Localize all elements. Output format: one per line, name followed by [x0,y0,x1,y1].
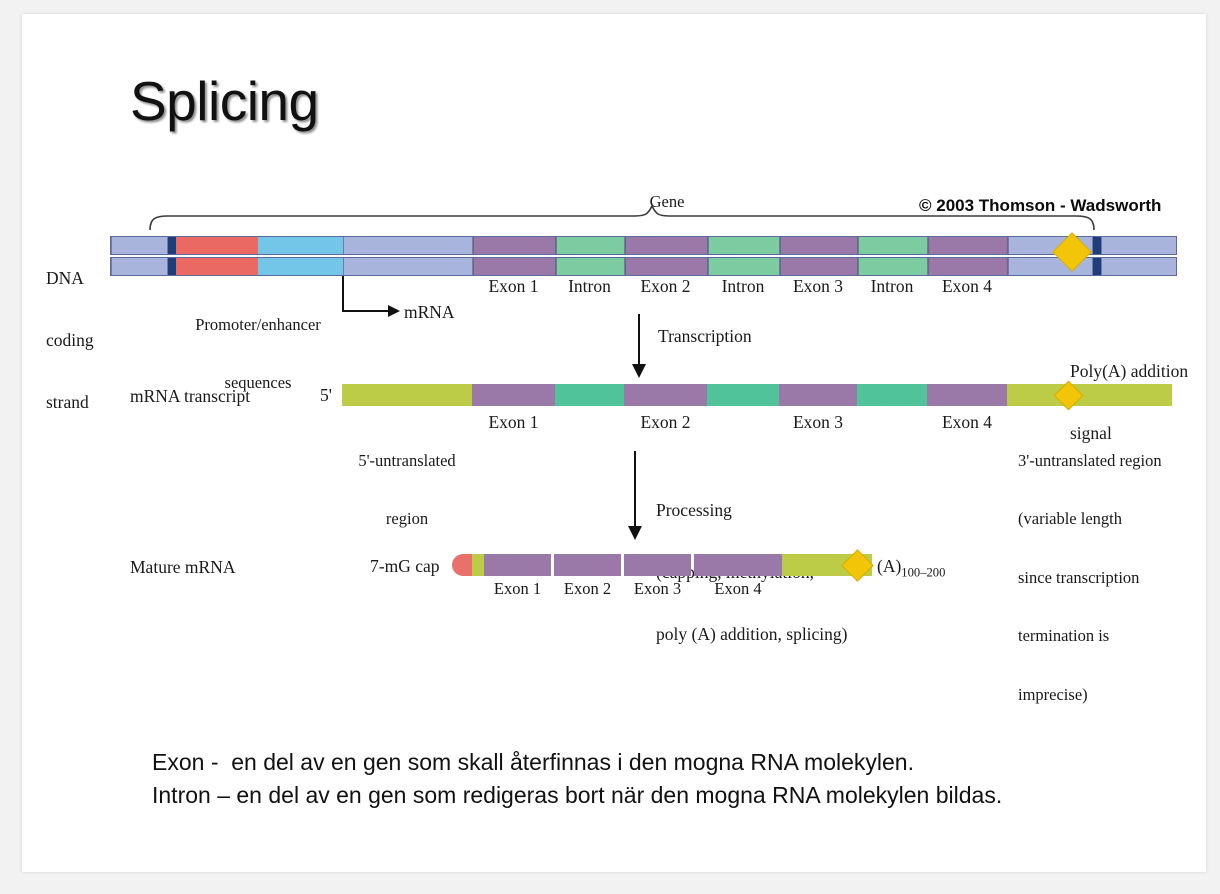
mrna-transcript-bar [342,384,1172,406]
dna-segment-flank-4 [343,237,473,254]
dna-segment-promoter-2 [176,258,258,275]
dna-segment-intron-10 [858,258,928,275]
dna-strand-top [110,236,1177,255]
gene-bracket [142,204,1102,232]
dna-segment-intron-8 [708,237,780,254]
dna-strand-label-line-2: coding [46,330,94,351]
dna-segment-dark-band-1 [168,237,176,254]
dna-segment-dark-band-13 [1093,258,1101,275]
mature-segment-exon-4 [624,554,691,576]
dna-segment-flank-14 [1101,237,1177,254]
utr5-label-line-2: region [358,509,455,528]
mature-label-exon-4-3: Exon 4 [714,579,761,598]
transcript-segment-exon-7 [927,384,1007,406]
caption-block: Exon - en del av en gen som skall återfi… [152,746,1002,811]
dna-strand-label-line-1: DNA [46,268,94,289]
dna-strand-bottom [110,257,1177,276]
utr5-label: 5'-untranslated region [358,412,455,568]
mrna-branch-hline [342,310,390,312]
utr5-label-line-1: 5'-untranslated [358,451,455,470]
dna-segment-intron-8 [708,258,780,275]
gene-label: Gene [650,192,685,211]
utr3-label-line-3: since transcription [1018,568,1162,587]
processing-arrowhead [628,526,642,540]
utr3-label-line-2: (variable length [1018,509,1162,528]
dna-segment-promoter-2 [176,237,258,254]
polya-tail-subscript: 100–200 [901,566,945,580]
mature-segment-exon-3 [554,554,621,576]
dna-label-exon-1-0: Exon 1 [488,276,538,297]
mature-label-exon-3-2: Exon 3 [634,579,681,598]
dna-segment-flank-0 [111,237,168,254]
transcript-label-exon-1-0: Exon 1 [488,412,538,433]
dna-segment-exon-11 [928,237,1008,254]
dna-segment-exon-11 [928,258,1008,275]
mrna-branch-arrowhead [388,305,400,317]
dna-segment-exon-7 [625,237,708,254]
transcription-arrow-line [638,314,640,368]
processing-arrow-line [634,451,636,529]
transcript-segment-intron-4 [707,384,779,406]
dna-segment-exon-7 [625,258,708,275]
promoter-label: Promoter/enhancer sequences [195,276,321,432]
dna-segment-dark-band-1 [168,258,176,275]
transcript-label-exon-2-1: Exon 2 [640,412,690,433]
transcription-arrowhead [632,364,646,378]
utr3-label: 3'-untranslated region (variable length … [1018,412,1162,743]
transcript-label-exon-3-2: Exon 3 [793,412,843,433]
processing-label-line-3: poly (A) addition, splicing) [656,624,848,645]
seven-mg-cap [452,554,474,576]
dna-segment-exon-9 [780,258,858,275]
dna-segment-flank-4 [343,258,473,275]
mrna-arrow-label: mRNA [404,302,455,323]
promoter-label-line-1: Promoter/enhancer [195,315,321,334]
dna-segment-intron-6 [556,258,625,275]
five-prime-label: 5' [320,385,332,406]
transcript-segment-exon-5 [779,384,857,406]
mature-label-exon-1-0: Exon 1 [494,579,541,598]
transcript-segment-utr-8 [1007,384,1172,406]
polya-tail-text: (A) [877,556,901,576]
page-title: Splicing [130,69,319,133]
transcript-label-exon-4-3: Exon 4 [942,412,992,433]
caption-line-intron: Intron – en del av en gen som redigeras … [152,779,1002,812]
dna-segment-flank-14 [1101,258,1177,275]
dna-segment-exon-5 [473,237,556,254]
utr3-label-line-5: imprecise) [1018,685,1162,704]
polya-signal-label-line-1: Poly(A) addition [1070,361,1188,382]
dna-label-exon-2-2: Exon 2 [640,276,690,297]
dna-label-exon-4-6: Exon 4 [942,276,992,297]
mrna-transcript-label: mRNA transcript [130,386,250,407]
caption-line-exon: Exon - en del av en gen som skall återfi… [152,746,1002,779]
dna-segment-exon-9 [780,237,858,254]
utr3-label-line-4: termination is [1018,626,1162,645]
cap-label: 7-mG cap [370,556,440,577]
mature-segment-exon-5 [694,554,782,576]
dna-label-intron-1: Intron [568,276,611,297]
transcript-segment-utr-0 [342,384,472,406]
dna-segment-enhancer-3 [258,237,343,254]
dna-label-intron-5: Intron [871,276,914,297]
dna-label-intron-3: Intron [722,276,765,297]
mrna-branch-vline [342,276,344,312]
slide-canvas: Splicing © 2003 Thomson - Wadsworth Gene… [22,14,1206,872]
dna-strand-label: DNA coding strand [46,227,94,454]
transcription-label: Transcription [658,326,752,347]
transcript-segment-intron-6 [857,384,927,406]
transcript-segment-exon-3 [624,384,707,406]
polya-tail-label: (A)100–200 [877,556,945,580]
utr3-label-line-1: 3'-untranslated region [1018,451,1162,470]
dna-strand-label-line-3: strand [46,392,94,413]
dna-segment-flank-0 [111,258,168,275]
mature-segment-utr-1 [472,554,484,576]
dna-segment-exon-5 [473,258,556,275]
mature-segment-exon-2 [484,554,551,576]
mature-label-exon-2-1: Exon 2 [564,579,611,598]
dna-segment-enhancer-3 [258,258,343,275]
mature-mrna-label: Mature mRNA [130,557,235,578]
dna-segment-dark-band-13 [1093,237,1101,254]
transcript-segment-exon-1 [472,384,555,406]
transcript-segment-intron-2 [555,384,624,406]
dna-segment-intron-10 [858,237,928,254]
dna-label-exon-3-4: Exon 3 [793,276,843,297]
dna-segment-intron-6 [556,237,625,254]
mature-mrna-bar [452,554,852,576]
processing-label-line-1: Processing [656,500,848,521]
